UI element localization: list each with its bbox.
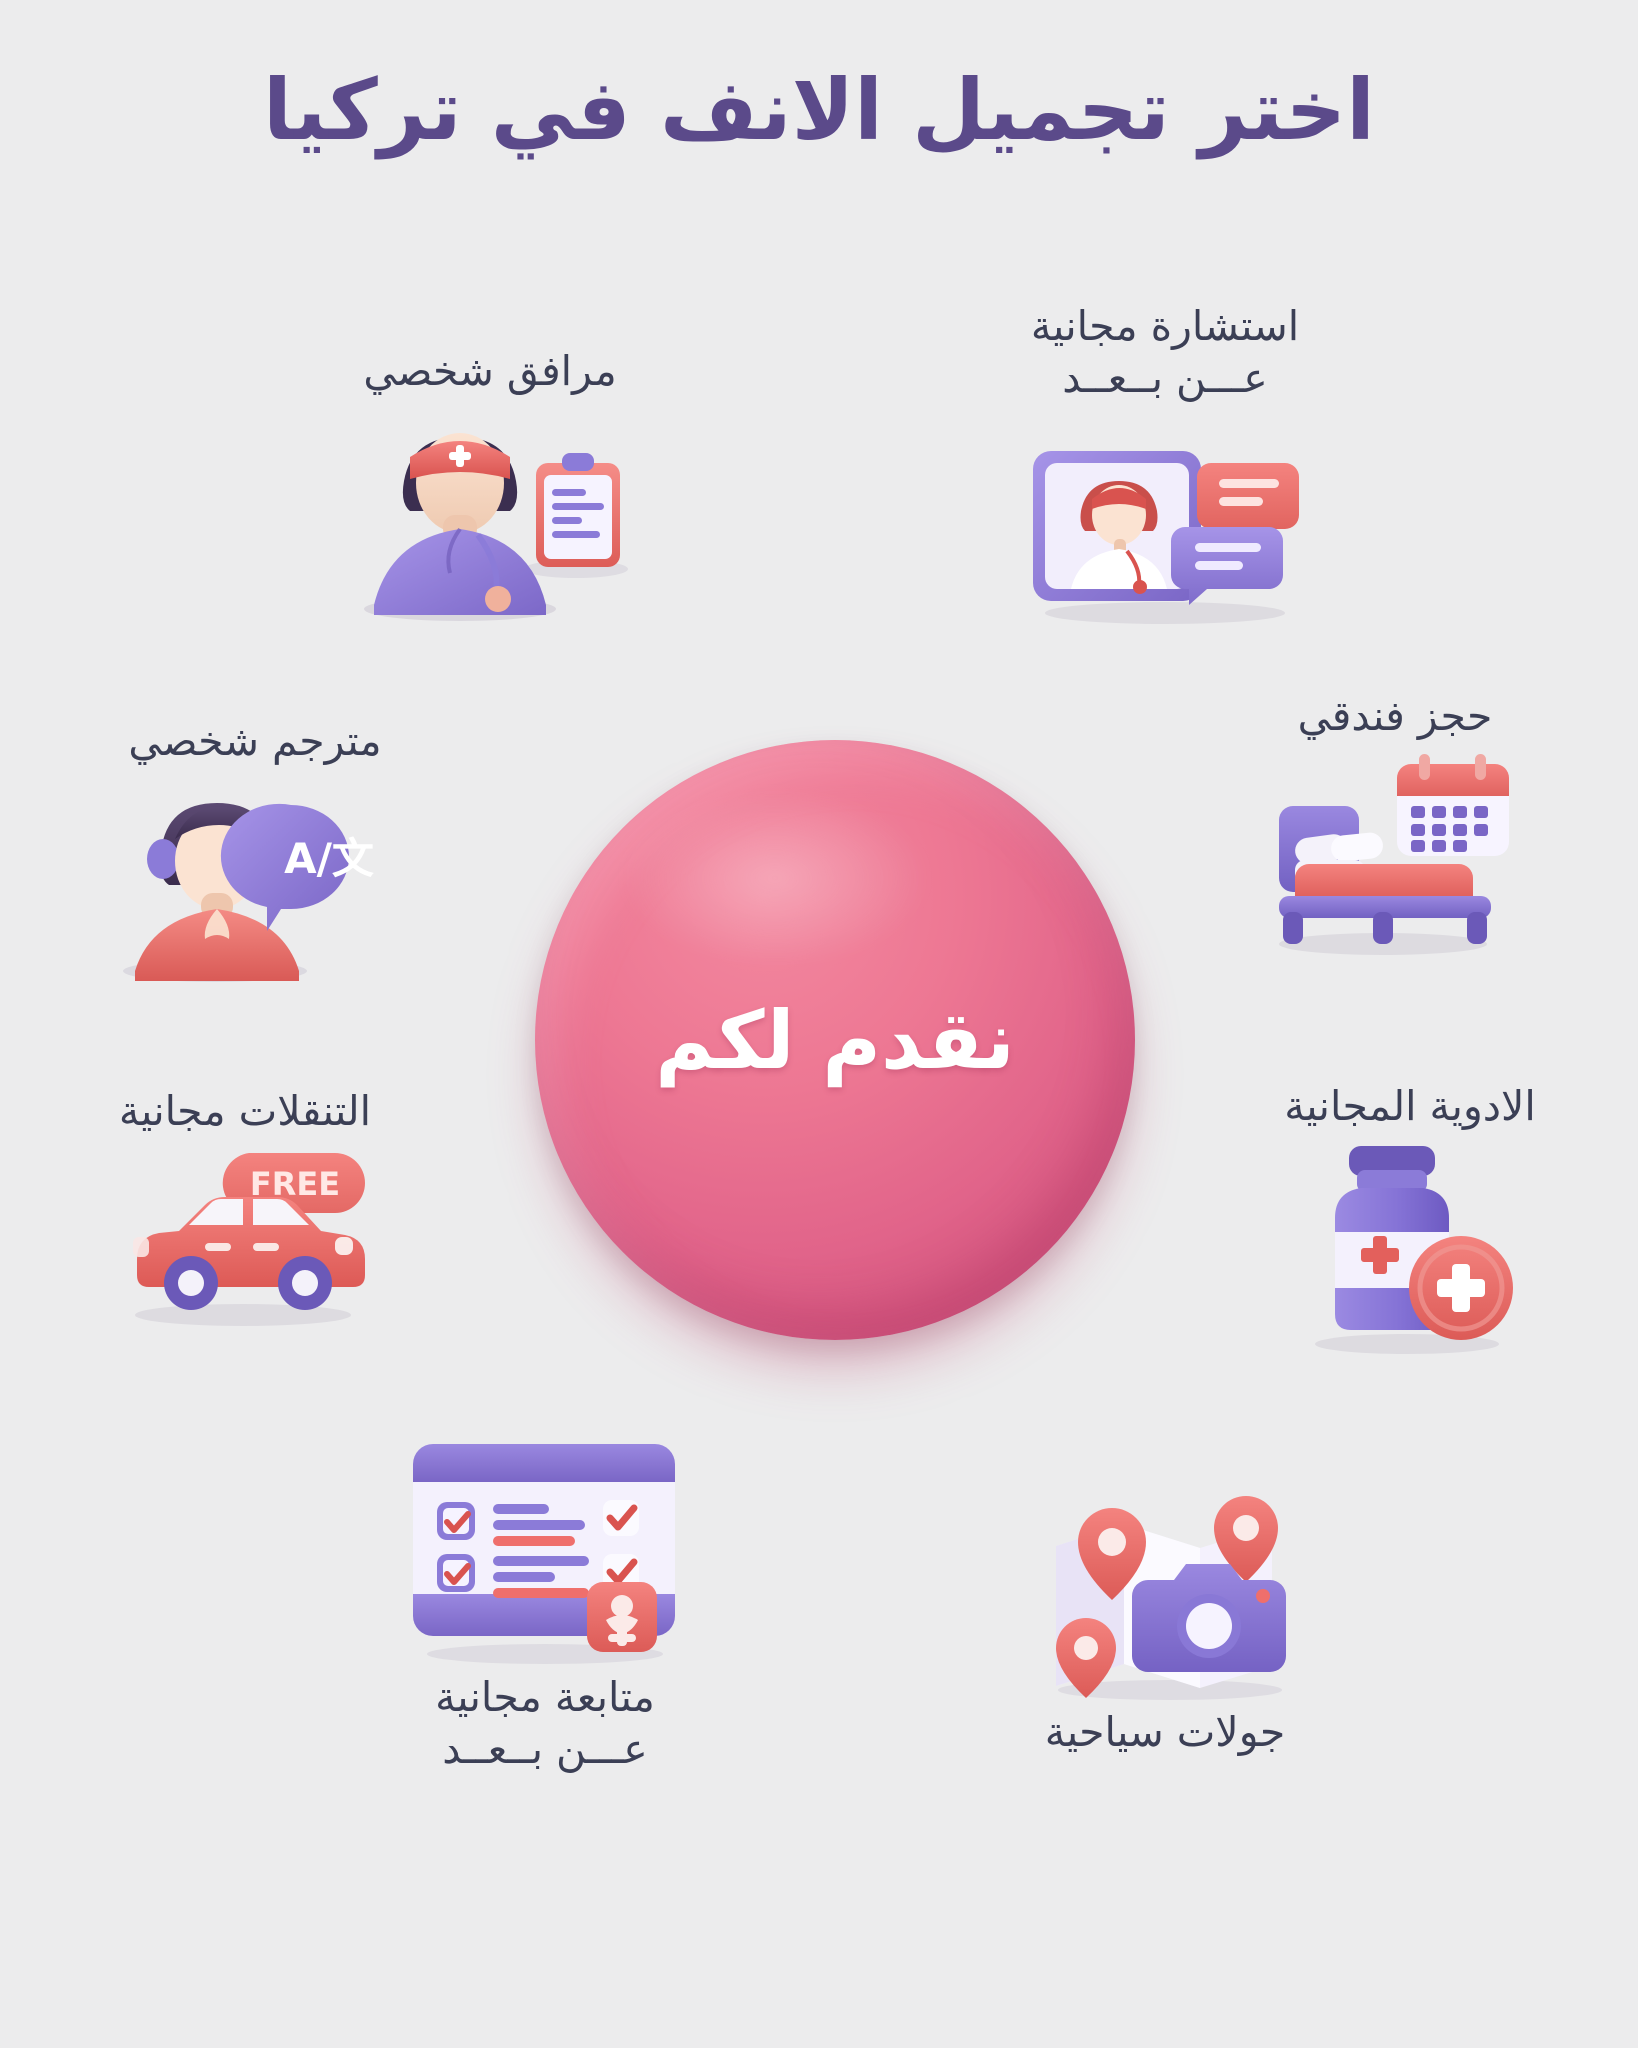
bed-calendar-icon	[1265, 748, 1525, 958]
node-followup-label: متابعة مجانية عـــن بــعــد	[355, 1671, 735, 1776]
node-companion-label: مرافق شخصي	[310, 345, 670, 397]
node-followup[interactable]: متابعة مجانية عـــن بــعــد	[355, 1430, 735, 1776]
node-consultation-label: استشارة مجانية عـــن بــعــد	[955, 300, 1375, 405]
node-transport[interactable]: التنقلات مجانية FREE	[60, 1085, 430, 1328]
node-hotel-label: حجز فندقي	[1230, 690, 1560, 742]
center-hub: نقدم لكم	[535, 740, 1135, 1340]
medicine-bottle-icon	[1295, 1140, 1525, 1355]
node-hotel-booking[interactable]: حجز فندقي	[1230, 690, 1560, 958]
svg-text:A/文: A/文	[284, 834, 374, 883]
node-consultation-label-line1: استشارة مجانية	[1031, 302, 1299, 350]
node-translator[interactable]: مترجم شخصي	[80, 715, 430, 983]
page-title: اختر تجميل الانف في تركيا	[0, 60, 1638, 161]
node-followup-label-line2: عـــن بــعــد	[355, 1723, 735, 1775]
map-camera-pins-icon	[1020, 1450, 1310, 1700]
node-translator-label: مترجم شخصي	[80, 715, 430, 767]
translator-person-icon: A/文	[105, 773, 405, 983]
node-free-medicine[interactable]: الادوية المجانية	[1220, 1080, 1600, 1355]
telemedicine-chat-icon	[1015, 415, 1315, 625]
node-consultation[interactable]: استشارة مجانية عـــن بــعــد	[955, 300, 1375, 625]
nurse-clipboard-icon	[340, 403, 640, 623]
center-label: نقدم لكم	[535, 740, 1135, 1340]
node-tours-label: جولات سياحية	[980, 1706, 1350, 1758]
node-consultation-label-line2: عـــن بــعــد	[955, 352, 1375, 404]
car-free-icon: FREE	[115, 1143, 375, 1328]
node-followup-label-line1: متابعة مجانية	[435, 1673, 655, 1721]
node-medicine-label: الادوية المجانية	[1220, 1080, 1600, 1132]
node-tours[interactable]: جولات سياحية	[980, 1450, 1350, 1758]
checklist-medical-icon	[395, 1430, 695, 1665]
node-companion[interactable]: مرافق شخصي	[310, 345, 670, 623]
node-transport-label: التنقلات مجانية	[60, 1085, 430, 1137]
infographic-canvas: اختر تجميل الانف في تركيا نقدم لكم مرافق…	[0, 0, 1638, 2048]
